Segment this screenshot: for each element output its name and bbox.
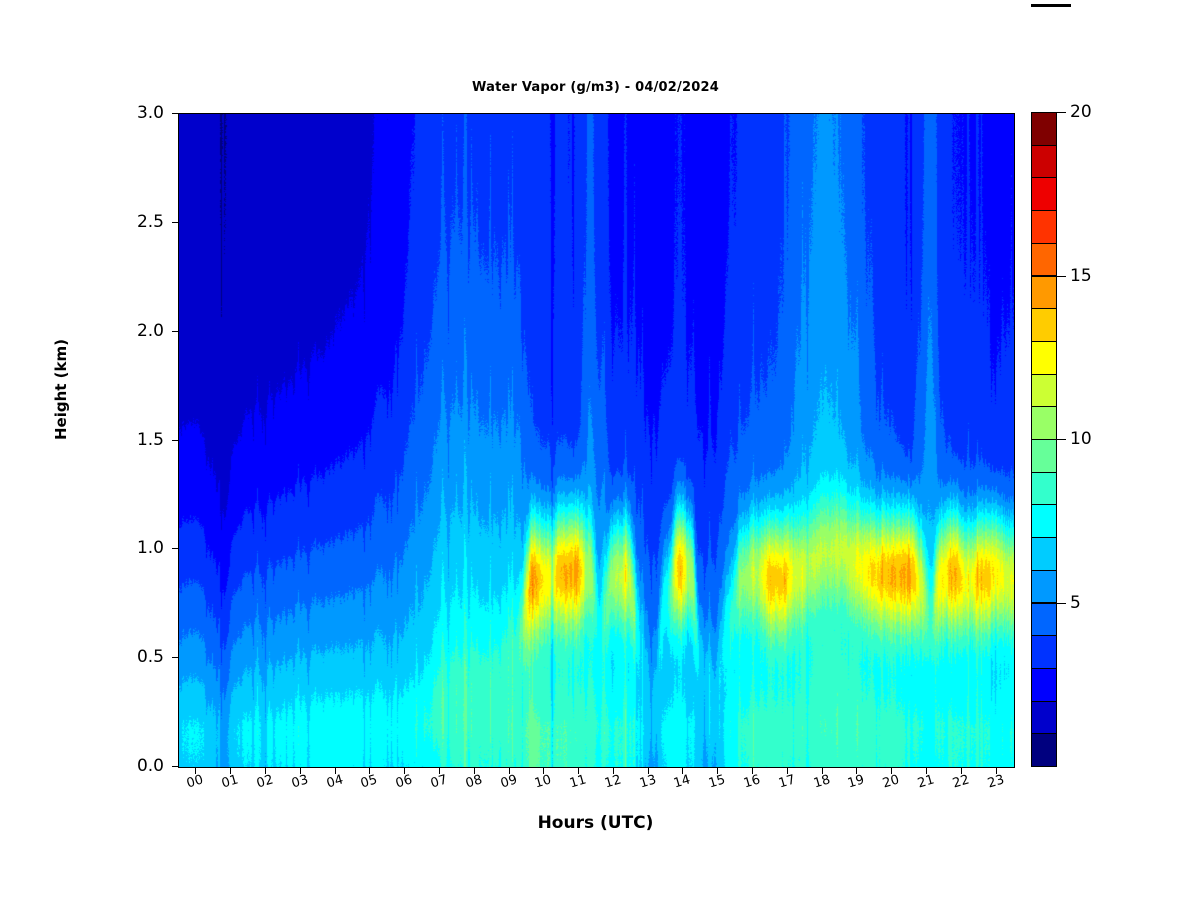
colorbar-band — [1031, 406, 1057, 440]
x-tick-label: 13 — [638, 772, 658, 791]
colorbar — [1031, 112, 1057, 766]
colorbar-tick-label: 15 — [1070, 266, 1092, 286]
x-tick-label: 14 — [672, 772, 692, 791]
colorbar-band — [1031, 603, 1057, 637]
colorbar-band — [1031, 504, 1057, 538]
colorbar-tick-label: 10 — [1070, 429, 1092, 449]
x-tick-label: 20 — [881, 772, 901, 791]
y-tick-mark — [172, 331, 179, 332]
y-tick-label: 1.0 — [137, 538, 164, 558]
colorbar-band — [1031, 145, 1057, 179]
x-tick-label: 16 — [742, 772, 762, 791]
x-tick-label: 15 — [707, 772, 727, 791]
colorbar-tick-label: 5 — [1070, 593, 1081, 613]
x-tick-label: 01 — [220, 772, 240, 791]
water-vapor-figure: Water Vapor (g/m3) - 04/02/2024 0.00.51.… — [0, 0, 1200, 900]
y-tick-label: 2.5 — [137, 212, 164, 232]
top-right-mark — [1031, 4, 1071, 7]
x-tick-label: 09 — [499, 772, 519, 791]
x-axis-title: Hours (UTC) — [178, 813, 1013, 833]
x-tick-label: 23 — [986, 772, 1006, 791]
colorbar-band — [1031, 733, 1057, 767]
colorbar-band — [1031, 439, 1057, 473]
colorbar-band — [1031, 276, 1057, 310]
x-tick-label: 05 — [359, 772, 379, 791]
y-tick-label: 0.5 — [137, 647, 164, 667]
colorbar-band — [1031, 210, 1057, 244]
y-tick-mark — [172, 548, 179, 549]
x-tick-label: 03 — [290, 772, 310, 791]
colorbar-band — [1031, 472, 1057, 506]
x-tick-label: 08 — [464, 772, 484, 791]
y-tick-label: 0.0 — [137, 756, 164, 776]
y-tick-mark — [172, 766, 179, 767]
y-tick-mark — [172, 113, 179, 114]
colorbar-band — [1031, 177, 1057, 211]
colorbar-band — [1031, 374, 1057, 408]
x-tick-label: 07 — [429, 772, 449, 791]
y-axis-title: Height (km) — [52, 339, 70, 440]
x-tick-label: 06 — [394, 772, 414, 791]
x-tick-label: 11 — [568, 772, 588, 791]
y-tick-mark — [172, 440, 179, 441]
colorbar-tick-mark — [1057, 603, 1066, 604]
x-tick-label: 04 — [325, 772, 345, 791]
colorbar-band — [1031, 701, 1057, 735]
colorbar-band — [1031, 570, 1057, 604]
x-tick-label: 17 — [777, 772, 797, 791]
colorbar-band — [1031, 341, 1057, 375]
colorbar-band — [1031, 537, 1057, 571]
page-title: Water Vapor (g/m3) - 04/02/2024 — [178, 80, 1013, 95]
colorbar-band — [1031, 243, 1057, 277]
x-tick-label: 18 — [812, 772, 832, 791]
y-axis: 0.00.51.01.52.02.53.0 — [100, 0, 164, 900]
x-tick-label: 00 — [185, 772, 205, 791]
x-tick-label: 02 — [255, 772, 275, 791]
x-tick-label: 19 — [846, 772, 866, 791]
colorbar-tick-mark — [1057, 276, 1066, 277]
x-tick-label: 22 — [951, 772, 971, 791]
heatmap-plot-area — [178, 113, 1015, 768]
y-tick-mark — [172, 222, 179, 223]
heatmap-canvas — [179, 114, 1014, 767]
colorbar-band — [1031, 668, 1057, 702]
y-tick-label: 3.0 — [137, 103, 164, 123]
y-tick-mark — [172, 657, 179, 658]
y-tick-label: 2.0 — [137, 321, 164, 341]
colorbar-tick-mark — [1057, 112, 1066, 113]
x-tick-label: 21 — [916, 772, 936, 791]
colorbar-band — [1031, 112, 1057, 146]
x-tick-label: 10 — [533, 772, 553, 791]
x-tick-label: 12 — [603, 772, 623, 791]
colorbar-tick-mark — [1057, 439, 1066, 440]
colorbar-band — [1031, 308, 1057, 342]
y-tick-label: 1.5 — [137, 430, 164, 450]
colorbar-band — [1031, 635, 1057, 669]
colorbar-tick-label: 20 — [1070, 102, 1092, 122]
